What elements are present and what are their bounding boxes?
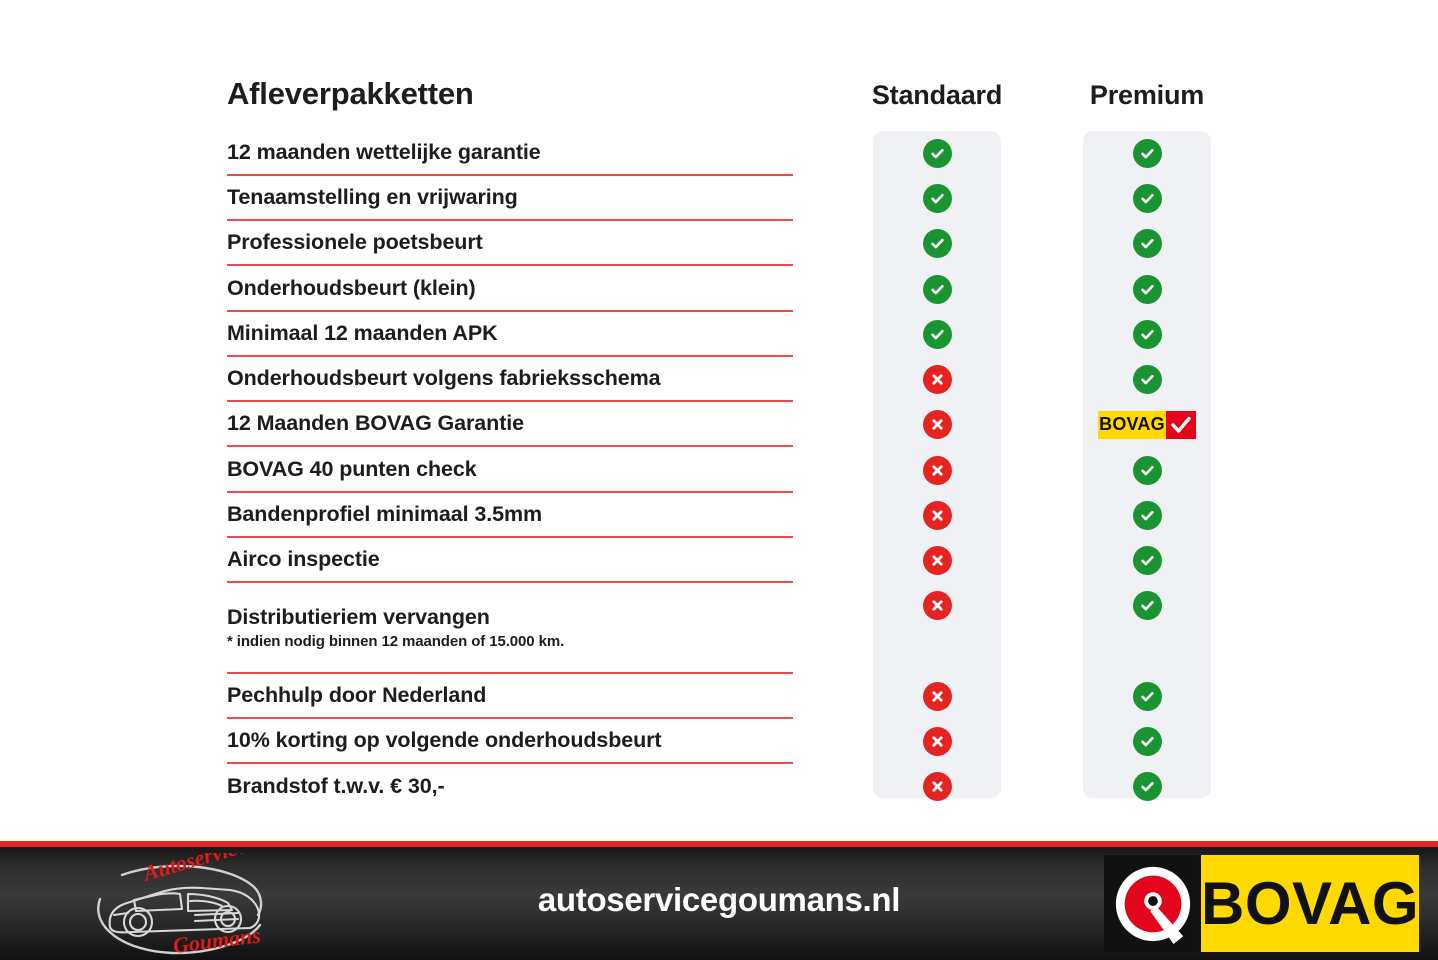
table-row: 10% korting op volgende onderhoudsbeurt	[227, 719, 793, 764]
status-cell-standaard	[873, 221, 1001, 266]
cross-icon	[923, 727, 952, 756]
status-cell-premium	[1083, 674, 1211, 719]
bovag-logo: BOVAG	[1104, 855, 1362, 952]
table-row: Onderhoudsbeurt (klein)	[227, 266, 793, 312]
status-cell-premium	[1083, 176, 1211, 221]
bovag-logo-wordmark: BOVAG	[1201, 855, 1419, 952]
cross-icon	[923, 546, 952, 575]
table-row: Pechhulp door Nederland	[227, 674, 793, 719]
column-header-standaard: Standaard	[828, 80, 1046, 111]
check-icon	[1133, 275, 1162, 304]
cross-icon	[923, 410, 952, 439]
table-row: Airco inspectie	[227, 538, 793, 583]
status-cell-premium	[1083, 764, 1211, 809]
feature-footnote: * indien nodig binnen 12 maanden of 15.0…	[227, 633, 793, 650]
bovag-guarantee-badge: BOVAG	[1098, 411, 1196, 439]
status-cell-premium	[1083, 719, 1211, 764]
cross-icon	[923, 365, 952, 394]
check-icon	[1133, 320, 1162, 349]
feature-label: Professionele poetsbeurt	[227, 230, 793, 255]
status-cell-standaard	[873, 357, 1001, 402]
table-row: Brandstof t.w.v. € 30,-	[227, 764, 793, 809]
check-icon	[1166, 411, 1196, 439]
table-row: 12 Maanden BOVAG Garantie	[227, 402, 793, 447]
feature-label: 10% korting op volgende onderhoudsbeurt	[227, 728, 793, 753]
status-cell-standaard	[873, 674, 1001, 719]
comparison-content: Afleverpakketten Standaard Premium 12 ma…	[0, 0, 1438, 841]
status-cell-premium	[1083, 538, 1211, 583]
check-icon	[923, 139, 952, 168]
table-row: Bandenprofiel minimaal 3.5mm	[227, 493, 793, 538]
cross-icon	[923, 772, 952, 801]
check-icon	[923, 320, 952, 349]
bovag-badge-label: BOVAG	[1098, 411, 1166, 439]
check-icon	[1133, 456, 1162, 485]
feature-label: 12 maanden wettelijke garantie	[227, 140, 793, 165]
status-cell-standaard	[873, 402, 1001, 447]
feature-label: Minimaal 12 maanden APK	[227, 321, 793, 346]
check-icon	[1133, 365, 1162, 394]
table-row: 12 maanden wettelijke garantie	[227, 131, 793, 176]
table-row: BOVAG 40 punten check	[227, 447, 793, 493]
table-row: Professionele poetsbeurt	[227, 221, 793, 266]
check-icon	[1133, 546, 1162, 575]
check-icon	[923, 184, 952, 213]
check-icon	[1133, 727, 1162, 756]
feature-label: Distributieriem vervangen	[227, 605, 793, 630]
afleverpakketten-comparison-page: Afleverpakketten Standaard Premium 12 ma…	[0, 0, 1438, 960]
feature-label: BOVAG 40 punten check	[227, 457, 793, 482]
status-cell-premium	[1083, 447, 1211, 493]
cross-icon	[923, 501, 952, 530]
status-cell-standaard	[873, 538, 1001, 583]
feature-label: Onderhoudsbeurt (klein)	[227, 276, 793, 301]
feature-label: Brandstof t.w.v. € 30,-	[227, 774, 793, 799]
status-cell-standaard	[873, 312, 1001, 357]
check-icon	[1133, 591, 1162, 620]
check-icon	[923, 229, 952, 258]
feature-label: Airco inspectie	[227, 547, 793, 572]
status-cell-premium	[1083, 221, 1211, 266]
status-cell-standaard	[873, 719, 1001, 764]
check-icon	[1133, 184, 1162, 213]
feature-label: 12 Maanden BOVAG Garantie	[227, 411, 793, 436]
status-cell-premium	[1083, 266, 1211, 312]
status-cell-premium	[1083, 312, 1211, 357]
check-icon	[1133, 682, 1162, 711]
cross-icon	[923, 591, 952, 620]
feature-label: Bandenprofiel minimaal 3.5mm	[227, 502, 793, 527]
status-cell-standaard	[873, 131, 1001, 176]
feature-label: Onderhoudsbeurt volgens fabrieksschema	[227, 366, 793, 391]
check-icon	[1133, 229, 1162, 258]
status-cell-standaard	[873, 266, 1001, 312]
check-icon	[1133, 772, 1162, 801]
svg-text:Autoservice: Autoservice	[139, 853, 250, 886]
autoservice-goumans-logo: Autoservice Goumans	[62, 853, 297, 959]
table-row: Tenaamstelling en vrijwaring	[227, 176, 793, 221]
status-cell-standaard	[873, 764, 1001, 809]
column-header-premium: Premium	[1038, 80, 1256, 111]
feature-label: Pechhulp door Nederland	[227, 683, 793, 708]
status-cell-standaard	[873, 493, 1001, 538]
feature-list: 12 maanden wettelijke garantieTenaamstel…	[227, 131, 793, 809]
icon-column-standaard	[873, 131, 1001, 809]
svg-text:Goumans: Goumans	[172, 922, 262, 958]
status-cell-premium	[1083, 493, 1211, 538]
status-cell-standaard	[873, 583, 1001, 674]
page-footer: Autoservice Goumans autoservicegoumans.n…	[0, 841, 1438, 960]
table-row: Onderhoudsbeurt volgens fabrieksschema	[227, 357, 793, 402]
icon-column-premium: BOVAG	[1083, 131, 1211, 809]
check-icon	[1133, 139, 1162, 168]
check-icon	[1133, 501, 1162, 530]
table-row: Distributieriem vervangen* indien nodig …	[227, 583, 793, 674]
status-cell-premium	[1083, 357, 1211, 402]
table-row: Minimaal 12 maanden APK	[227, 312, 793, 357]
page-title: Afleverpakketten	[227, 76, 474, 112]
check-icon	[923, 275, 952, 304]
status-cell-standaard	[873, 447, 1001, 493]
status-cell-premium	[1083, 583, 1211, 674]
bovag-emblem-icon	[1104, 855, 1201, 952]
cross-icon	[923, 682, 952, 711]
feature-label: Tenaamstelling en vrijwaring	[227, 185, 793, 210]
status-cell-standaard	[873, 176, 1001, 221]
status-cell-premium	[1083, 131, 1211, 176]
status-cell-premium: BOVAG	[1083, 402, 1211, 447]
cross-icon	[923, 456, 952, 485]
